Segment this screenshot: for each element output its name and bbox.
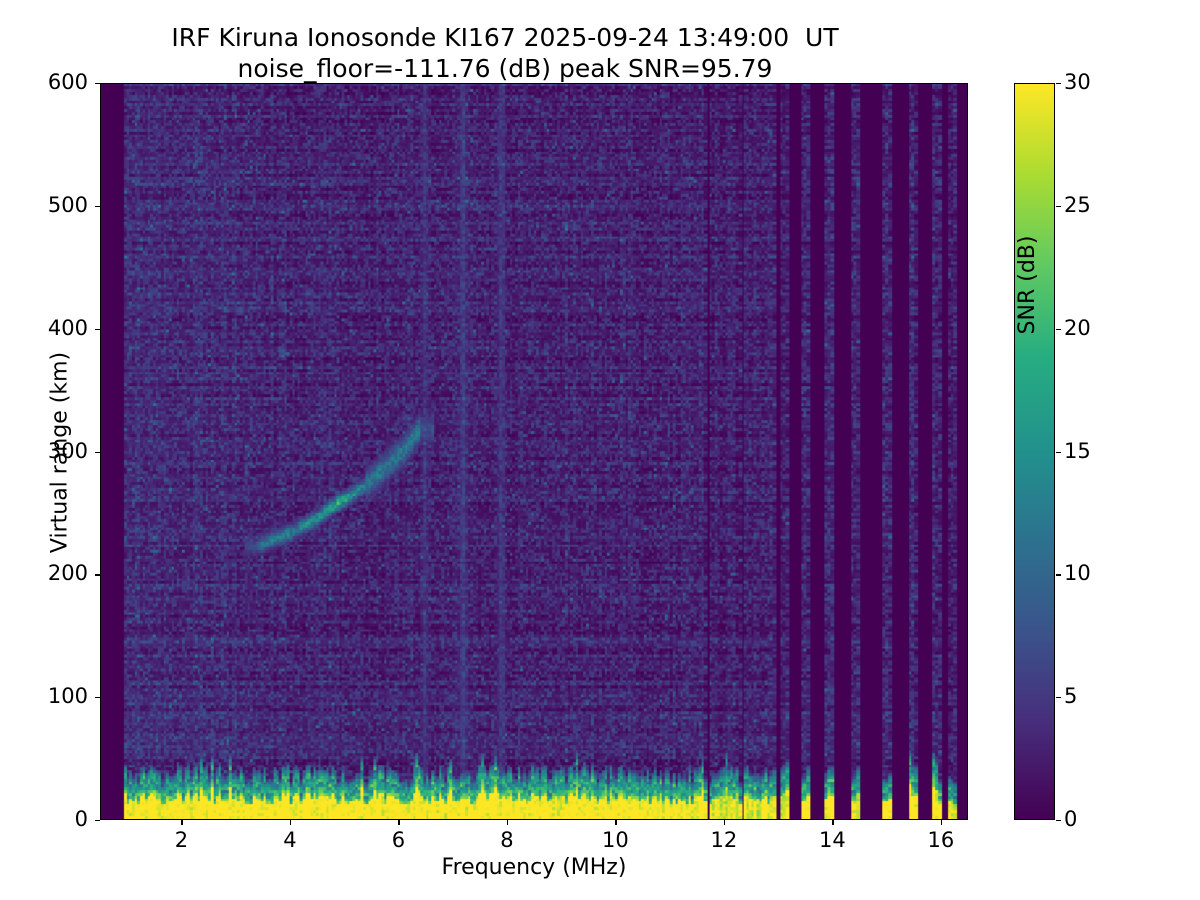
x-tick-label: 8 bbox=[477, 828, 537, 852]
x-tick-label: 2 bbox=[151, 828, 211, 852]
x-tick-label: 6 bbox=[368, 828, 428, 852]
x-tick-label: 16 bbox=[911, 828, 971, 852]
y-tick-mark bbox=[95, 83, 100, 84]
ionogram-figure: IRF Kiruna Ionosonde KI167 2025-09-24 13… bbox=[0, 0, 1200, 900]
x-tick-label: 12 bbox=[694, 828, 754, 852]
colorbar-tick-label: 10 bbox=[1064, 561, 1091, 585]
colorbar-tick-mark bbox=[1056, 820, 1061, 821]
colorbar-tick-mark bbox=[1056, 83, 1061, 84]
y-tick-mark bbox=[95, 206, 100, 207]
y-tick-mark bbox=[95, 820, 100, 821]
x-tick-mark bbox=[832, 820, 833, 825]
y-tick-mark bbox=[95, 452, 100, 453]
x-tick-mark bbox=[290, 820, 291, 825]
y-tick-mark bbox=[95, 697, 100, 698]
title-line-1: IRF Kiruna Ionosonde KI167 2025-09-24 13… bbox=[0, 22, 1010, 53]
y-tick-mark bbox=[95, 574, 100, 575]
colorbar-tick-label: 5 bbox=[1064, 684, 1077, 708]
colorbar-tick-mark bbox=[1056, 452, 1061, 453]
x-tick-mark bbox=[615, 820, 616, 825]
colorbar-tick-label: 15 bbox=[1064, 439, 1091, 463]
ionogram-plot-area bbox=[100, 83, 968, 820]
x-tick-label: 14 bbox=[802, 828, 862, 852]
x-tick-label: 4 bbox=[260, 828, 320, 852]
colorbar-tick-label: 30 bbox=[1064, 70, 1091, 94]
ionogram-heatmap bbox=[101, 84, 967, 819]
colorbar-label: SNR (dB) bbox=[1015, 165, 1040, 405]
x-tick-mark bbox=[724, 820, 725, 825]
colorbar-tick-label: 25 bbox=[1064, 193, 1091, 217]
y-tick-label: 0 bbox=[12, 807, 88, 831]
colorbar-tick-mark bbox=[1056, 574, 1061, 575]
y-tick-label: 500 bbox=[12, 193, 88, 217]
colorbar-tick-label: 20 bbox=[1064, 316, 1091, 340]
colorbar-tick-mark bbox=[1056, 697, 1061, 698]
y-tick-label: 600 bbox=[12, 70, 88, 94]
colorbar-tick-mark bbox=[1056, 206, 1061, 207]
x-tick-mark bbox=[507, 820, 508, 825]
x-axis-label: Frequency (MHz) bbox=[100, 855, 968, 880]
x-tick-label: 10 bbox=[585, 828, 645, 852]
colorbar-tick-mark bbox=[1056, 329, 1061, 330]
title-line-2: noise_floor=-111.76 (dB) peak SNR=95.79 bbox=[0, 53, 1010, 84]
y-axis-label: Virtual range (km) bbox=[48, 303, 73, 603]
colorbar-tick-label: 0 bbox=[1064, 807, 1077, 831]
figure-title: IRF Kiruna Ionosonde KI167 2025-09-24 13… bbox=[0, 22, 1010, 84]
y-tick-mark bbox=[95, 329, 100, 330]
x-tick-mark bbox=[398, 820, 399, 825]
x-tick-mark bbox=[181, 820, 182, 825]
x-tick-mark bbox=[941, 820, 942, 825]
y-tick-label: 100 bbox=[12, 684, 88, 708]
